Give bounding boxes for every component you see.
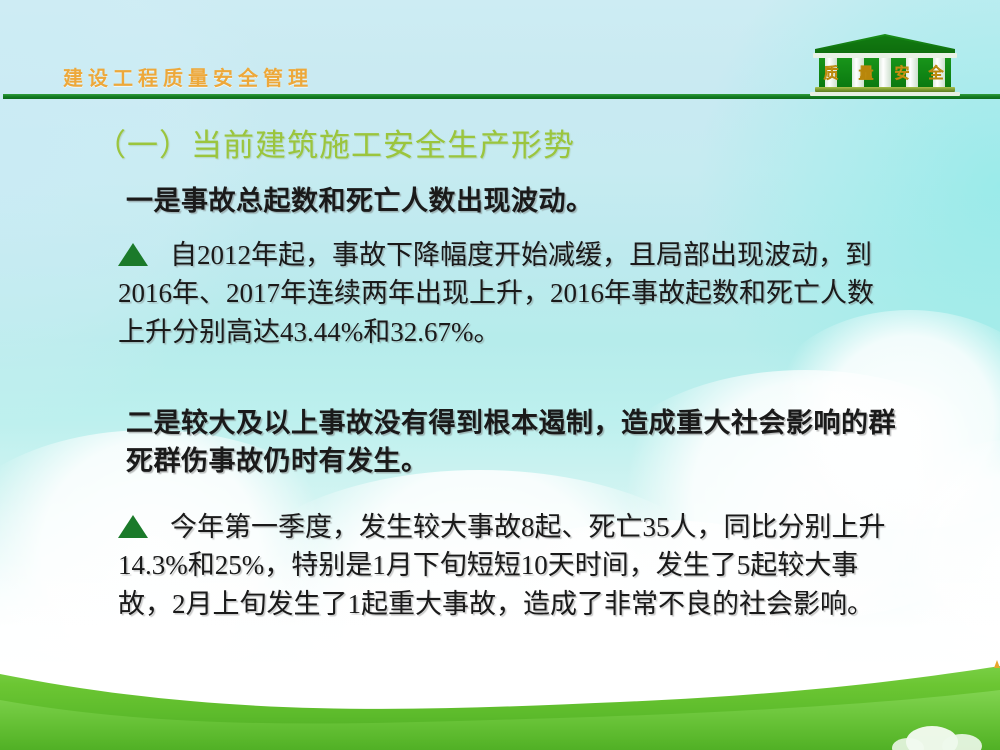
triangle-bullet-icon <box>118 515 148 538</box>
logo-char: 安 <box>894 64 909 82</box>
page-title: 建设工程质量安全管理 <box>63 62 313 91</box>
quality-safety-building-logo: 质 量 安 全 <box>805 33 965 97</box>
bullet-point-one: 一是事故总起数和死亡人数出现波动。 <box>126 182 926 220</box>
section-heading: （一）当前建筑施工安全生产形势 <box>95 120 575 165</box>
building-icon: 质 量 安 全 <box>805 33 965 97</box>
detail-paragraph-two: 今年第一季度，发生较大事故8起、死亡35人，同比分别上升14.3%和25%，特别… <box>118 508 908 623</box>
grass-icon <box>0 660 1000 750</box>
logo-char: 量 <box>858 65 873 82</box>
detail-two-text: 今年第一季度，发生较大事故8起、死亡35人，同比分别上升14.3%和25%，特别… <box>118 512 886 619</box>
logo-char: 全 <box>927 64 944 82</box>
presentation-slide: 建设工程质量安全管理 <box>0 0 1000 750</box>
triangle-bullet-icon <box>118 243 148 266</box>
bullet-point-two: 二是较大及以上事故没有得到根本遏制，造成重大社会影响的群死群伤事故仍时有发生。 <box>126 404 916 481</box>
detail-one-text: 自2012年起，事故下降幅度开始减缓，且局部出现波动，到2016年、2017年连… <box>118 240 874 347</box>
grass-meadow <box>0 660 1000 750</box>
detail-paragraph-one: 自2012年起，事故下降幅度开始减缓，且局部出现波动，到2016年、2017年连… <box>118 236 898 351</box>
logo-char: 质 <box>823 64 838 82</box>
